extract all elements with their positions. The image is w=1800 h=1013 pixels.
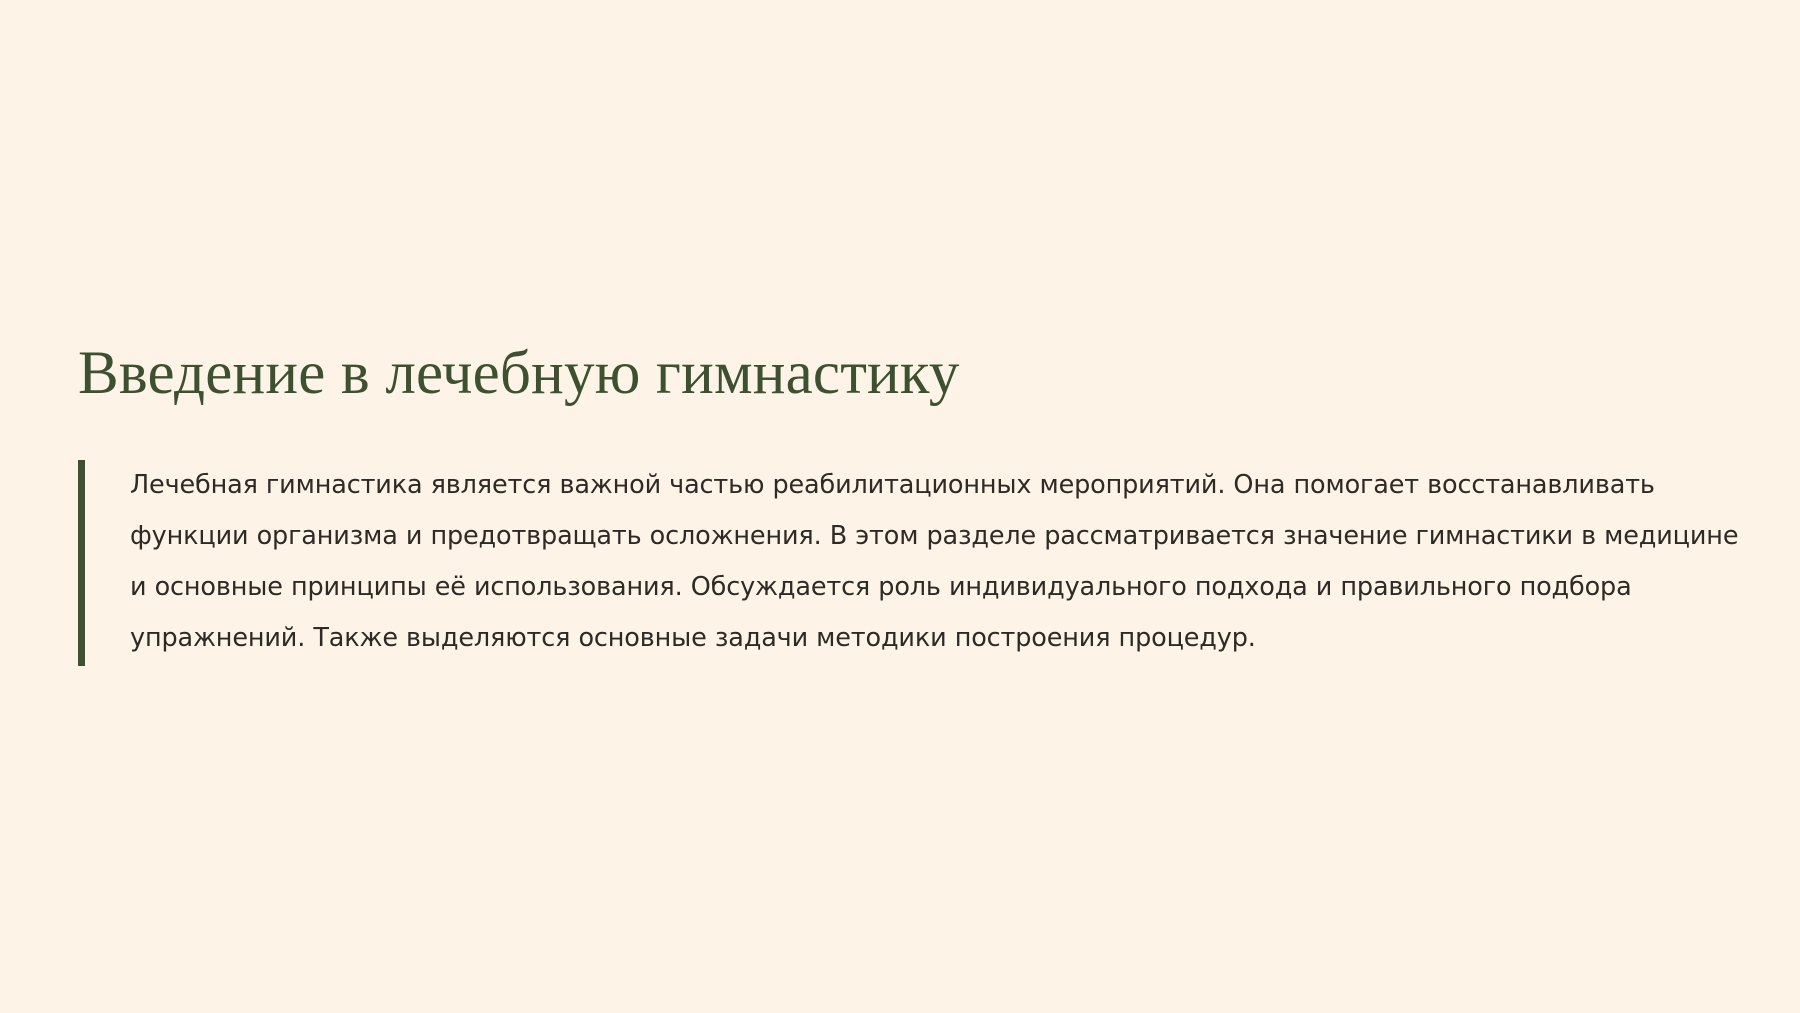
slide-canvas: Введение в лечебную гимнастику Лечебная … — [0, 0, 1800, 1013]
content-block: Введение в лечебную гимнастику Лечебная … — [78, 340, 1758, 664]
accent-bar — [78, 460, 85, 666]
body-section: Лечебная гимнастика является важной част… — [78, 460, 1758, 664]
page-title: Введение в лечебную гимнастику — [78, 340, 1758, 408]
body-paragraph: Лечебная гимнастика является важной част… — [130, 460, 1758, 664]
